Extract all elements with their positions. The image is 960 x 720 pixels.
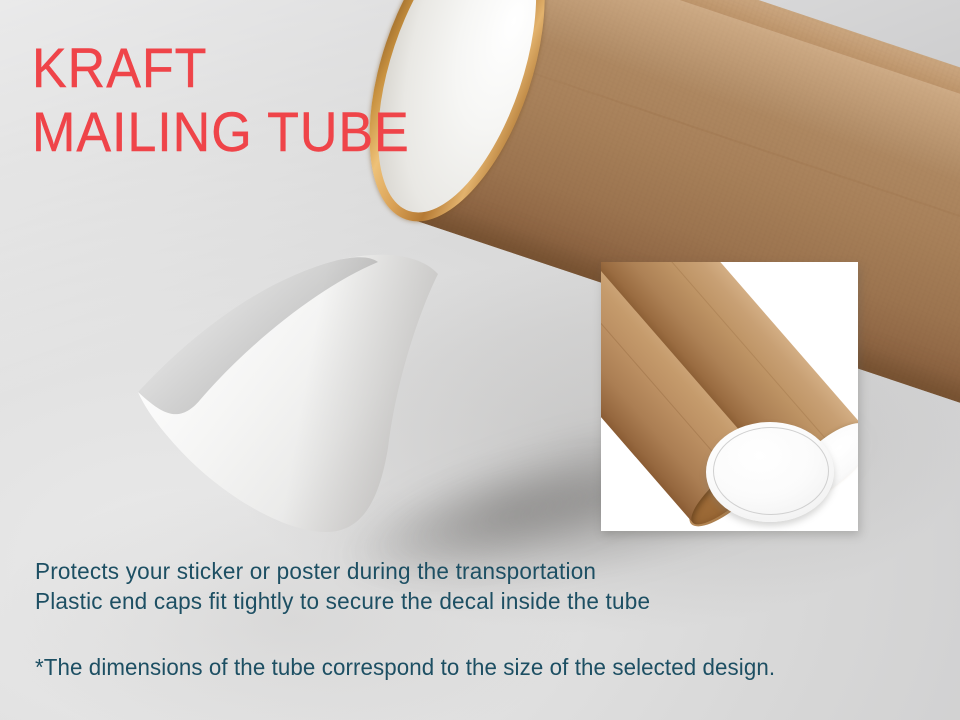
footnote-text: *The dimensions of the tube correspond t… <box>35 652 775 682</box>
inset-loose-end-cap <box>706 422 834 522</box>
title-line-2: MAILING TUBE <box>32 100 410 164</box>
feature-text-block: Protects your sticker or poster during t… <box>35 556 663 616</box>
inset-product-photo <box>601 262 858 531</box>
promo-graphic: KRAFT MAILING TUBE Protects your sticker… <box>0 0 960 720</box>
feature-line-2: Plastic end caps fit tightly to secure t… <box>35 586 650 616</box>
inset-photo-canvas <box>601 262 858 531</box>
poster-side-shading <box>120 240 450 540</box>
title-line-1: KRAFT <box>32 36 410 100</box>
rolled-poster <box>120 240 450 540</box>
feature-line-1: Protects your sticker or poster during t… <box>35 556 650 586</box>
page-title: KRAFT MAILING TUBE <box>32 36 438 164</box>
